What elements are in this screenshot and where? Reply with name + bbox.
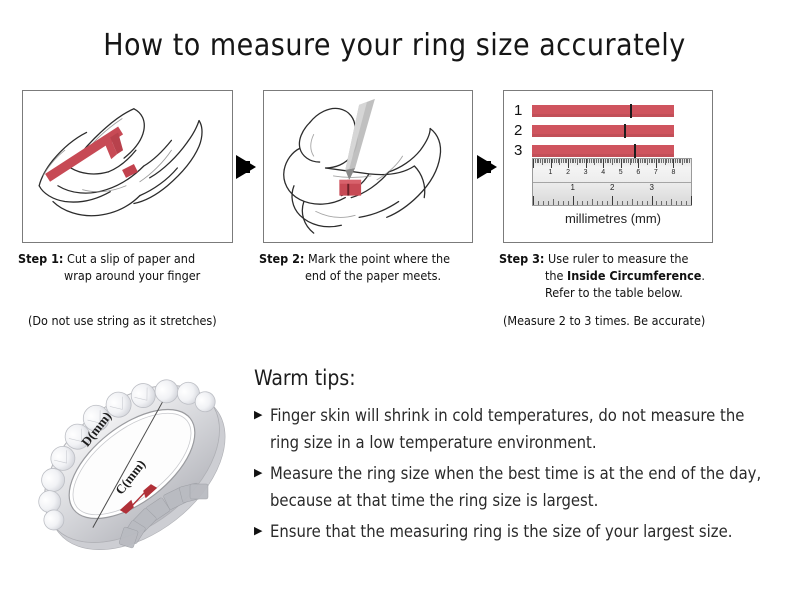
ruler-inch-scale: 123	[533, 182, 691, 205]
strip-mark-3	[634, 144, 636, 158]
step-1-caption: Step 1: Cut a slip of paper and wrap aro…	[18, 250, 253, 284]
step-3-illustration-panel: 1 2 3 12345678 123 millimetres (mm)	[503, 90, 713, 243]
step-2-line2: end of the paper meets.	[259, 267, 494, 284]
step-3-label: Step 3:	[499, 251, 544, 266]
step-3-line1: Use ruler to measure the	[548, 251, 688, 266]
step-2-line1: Mark the point where the	[308, 251, 450, 266]
list-item: ▶ Measure the ring size when the best ti…	[254, 460, 774, 514]
strip-bar-2	[532, 125, 674, 137]
step-1-note: (Do not use string as it stretches)	[28, 313, 217, 328]
step-1-line1: Cut a slip of paper and	[67, 251, 195, 266]
step-1-illustration-panel	[22, 90, 233, 243]
warm-tips-heading: Warm tips:	[254, 366, 356, 390]
triangle-bullet-icon: ▶	[254, 460, 270, 487]
arrow-step1-to-step2	[236, 155, 256, 179]
arrow-step2-to-step3	[477, 155, 497, 179]
ruler: 12345678 123	[532, 158, 692, 206]
step-2-caption: Step 2: Mark the point where the end of …	[259, 250, 494, 284]
strip-number-3: 3	[514, 143, 532, 158]
pen	[345, 99, 375, 180]
step-1-label: Step 1:	[18, 251, 63, 266]
strip-number-2: 2	[514, 123, 532, 138]
step-3-line2-prefix: the	[545, 268, 567, 283]
step-3-line2: the Inside Circumference.	[499, 267, 759, 284]
paper-strip-red	[339, 180, 361, 196]
step-2-label: Step 2:	[259, 251, 304, 266]
warm-tips-list: ▶ Finger skin will shrink in cold temper…	[254, 402, 774, 549]
warm-tip-text-3: Ensure that the measuring ring is the si…	[270, 518, 732, 545]
strip-mark-1	[630, 104, 632, 118]
list-item: ▶ Finger skin will shrink in cold temper…	[254, 402, 774, 456]
measured-strip-row-1: 1	[514, 103, 674, 118]
step-1-line2: wrap around your finger	[18, 267, 253, 284]
step-3-note: (Measure 2 to 3 times. Be accurate)	[503, 313, 705, 328]
step-3-emphasis: Inside Circumference	[567, 268, 701, 283]
triangle-bullet-icon: ▶	[254, 402, 270, 429]
infographic-page: How to measure your ring size accurately	[0, 0, 789, 606]
step-3-caption: Step 3: Use ruler to measure the the Ins…	[499, 250, 759, 301]
warm-tip-text-2: Measure the ring size when the best time…	[270, 460, 774, 514]
strip-bar-1	[532, 105, 674, 117]
ruler-unit-caption: millimetres (mm)	[528, 211, 698, 226]
strip-number-1: 1	[514, 103, 532, 118]
ruler-cm-scale: 12345678	[533, 159, 691, 183]
hand-marking-paper-drawing	[264, 91, 472, 242]
page-title: How to measure your ring size accurately	[0, 28, 789, 63]
strip-bar-3	[532, 145, 674, 157]
triangle-bullet-icon: ▶	[254, 518, 270, 545]
step-3-line2-suffix: .	[701, 268, 705, 283]
measured-strip-row-2: 2	[514, 123, 674, 138]
measured-strip-row-3: 3	[514, 143, 674, 158]
warm-tip-text-1: Finger skin will shrink in cold temperat…	[270, 402, 774, 456]
step-3-line3: Refer to the table below.	[499, 284, 759, 301]
strip-mark-2	[624, 124, 626, 138]
hand-with-paper-strip-drawing	[23, 91, 232, 242]
list-item: ▶ Ensure that the measuring ring is the …	[254, 518, 774, 545]
step-2-illustration-panel	[263, 90, 473, 243]
